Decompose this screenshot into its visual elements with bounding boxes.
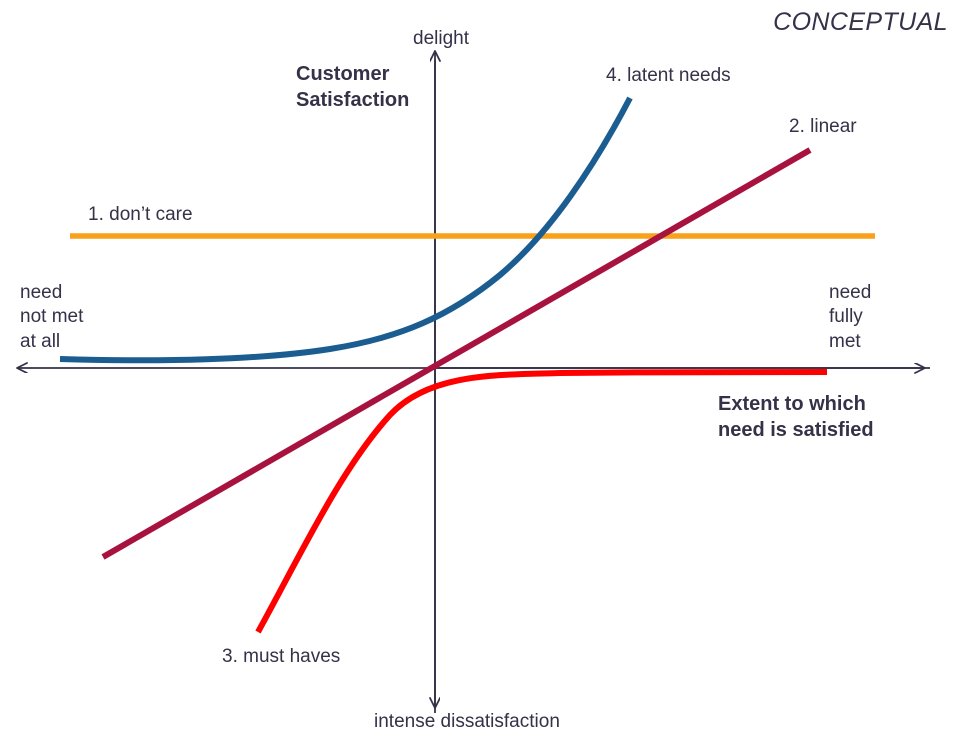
curve-label-linear: 2. linear	[789, 115, 857, 139]
curve-latent-needs	[60, 98, 630, 360]
chart-canvas	[0, 0, 960, 745]
y-axis-title: Customer Satisfaction	[296, 62, 409, 113]
y-axis-top-label: delight	[413, 27, 469, 51]
curve-linear	[103, 150, 810, 557]
conceptual-kicker: CONCEPTUAL	[773, 6, 948, 38]
curve-label-latent-needs: 4. latent needs	[606, 64, 731, 88]
curve-label-must-haves: 3. must haves	[222, 645, 340, 669]
x-axis-left-label: need not met at all	[20, 281, 83, 354]
kano-model-diagram: CONCEPTUAL Customer Satisfaction delight…	[0, 0, 960, 745]
x-axis-title: Extent to which need is satisfied	[718, 392, 874, 443]
curve-label-dont-care: 1. don’t care	[88, 203, 193, 227]
y-axis-bottom-label: intense dissatisfaction	[374, 710, 560, 734]
x-axis-right-label: need fully met	[829, 281, 871, 354]
